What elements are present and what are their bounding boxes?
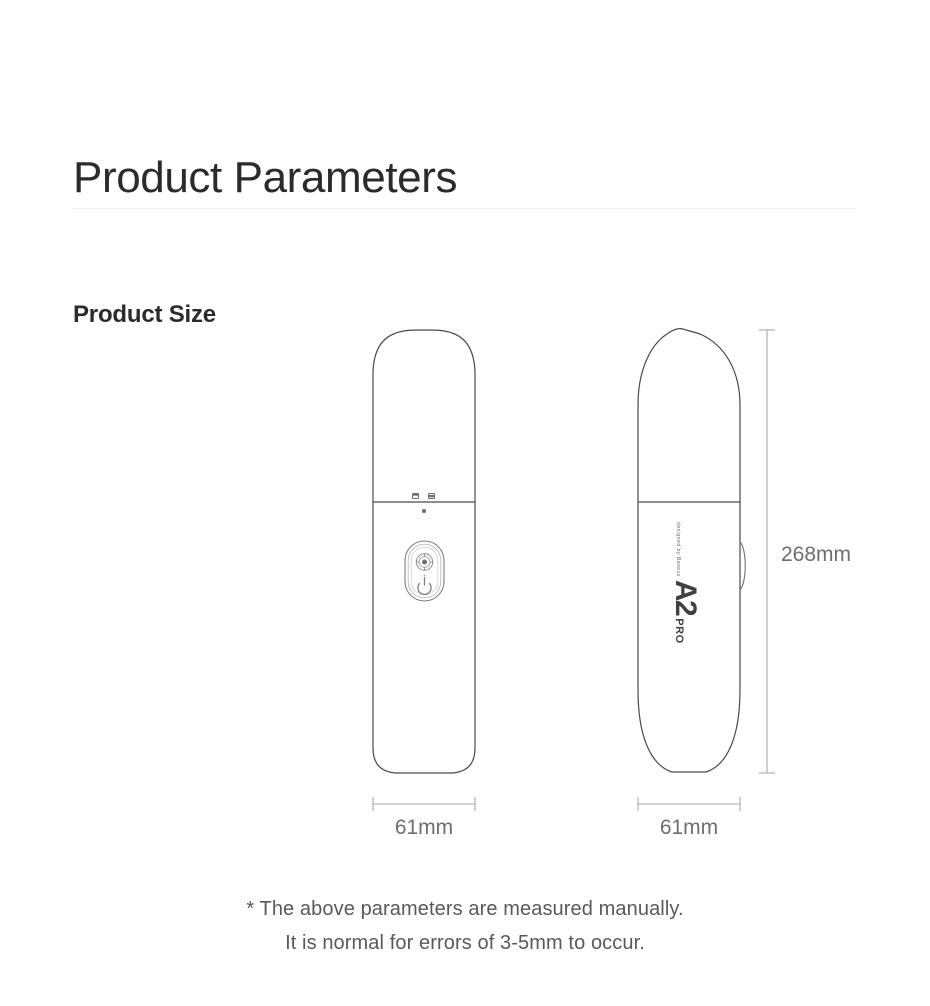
side-trigger-button	[740, 542, 745, 590]
section-label-product-size: Product Size	[73, 298, 216, 332]
brand-tagline: designed by Baseus	[672, 522, 682, 577]
height-dimension	[759, 330, 775, 773]
height-label: 268mm	[781, 542, 851, 568]
brand-logo: designed by Baseus A2 PRO	[672, 522, 714, 630]
button-mid-dot	[423, 574, 425, 576]
vent-icon-left	[413, 494, 419, 499]
front-body-outline	[373, 330, 475, 773]
fan-icon	[416, 554, 432, 570]
side-width-dimension	[638, 797, 740, 811]
brand-model: A2	[672, 580, 699, 615]
brand-suffix: PRO	[672, 618, 684, 644]
vent-icon-right	[429, 494, 435, 499]
footnote-line-2: It is normal for errors of 3-5mm to occu…	[0, 926, 930, 960]
front-view-drawing	[373, 330, 475, 811]
front-width-dimension	[373, 797, 475, 811]
front-width-label: 61mm	[373, 815, 475, 841]
led-indicator-dot	[422, 509, 426, 513]
side-width-label: 61mm	[638, 815, 740, 841]
footnote-line-1: * The above parameters are measured manu…	[0, 892, 930, 926]
power-button	[405, 541, 444, 601]
title-divider	[73, 208, 855, 209]
product-parameters-page: Product Parameters Product Size	[0, 0, 930, 1006]
footnote: * The above parameters are measured manu…	[0, 892, 930, 960]
power-icon	[418, 578, 431, 595]
page-title: Product Parameters	[73, 147, 457, 209]
